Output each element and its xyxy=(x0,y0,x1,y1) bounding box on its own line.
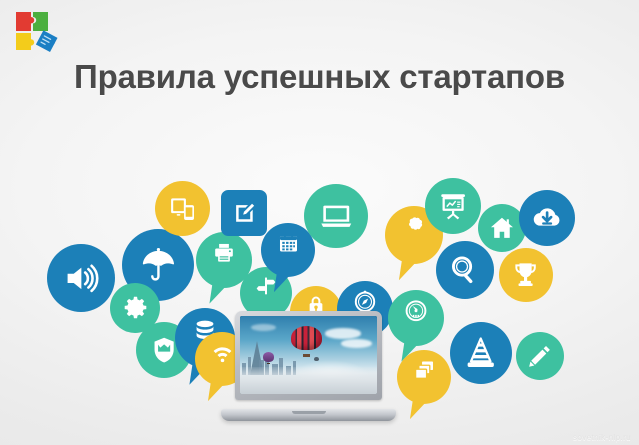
hot-air-balloon-small xyxy=(263,352,274,364)
icon-badge-laptopicon[interactable] xyxy=(304,184,368,248)
screen-cloud xyxy=(325,328,361,338)
laptop-screen xyxy=(240,316,377,394)
traffic-cone-icon xyxy=(450,322,512,384)
hot-air-balloon-main xyxy=(291,326,323,357)
laptop-lid xyxy=(235,311,382,400)
icon-badge-trophy[interactable] xyxy=(499,248,553,302)
icon-badge-devices[interactable] xyxy=(155,181,210,236)
icon-badge-presentation[interactable] xyxy=(425,178,481,234)
presentation-icon xyxy=(425,178,481,234)
screen-ground xyxy=(240,367,377,394)
devices-icon xyxy=(155,181,210,236)
screen-cloud xyxy=(341,339,371,348)
speaker-icon xyxy=(47,244,115,312)
hot-air-balloon-tiny xyxy=(314,357,319,363)
cloud-download-icon xyxy=(519,190,575,246)
icon-badge-layers[interactable] xyxy=(397,350,451,420)
laptop-icon xyxy=(304,184,368,248)
icon-badge-speaker[interactable] xyxy=(47,244,115,312)
icon-badge-pencil[interactable] xyxy=(516,332,564,380)
laptop-illustration xyxy=(221,311,396,421)
laptop-notch xyxy=(292,411,326,414)
laptop-base xyxy=(221,409,396,421)
icon-badge-clouddl[interactable] xyxy=(519,190,575,246)
watermark: sovetnik-nlp.ru xyxy=(573,433,631,442)
pencil-icon xyxy=(516,332,564,380)
trophy-icon xyxy=(499,248,553,302)
layers-icon xyxy=(397,350,451,404)
screen-cloud xyxy=(251,324,276,331)
slide-canvas: Правила успешных стартапов xyxy=(0,0,639,445)
icon-badge-cone[interactable] xyxy=(450,322,512,384)
